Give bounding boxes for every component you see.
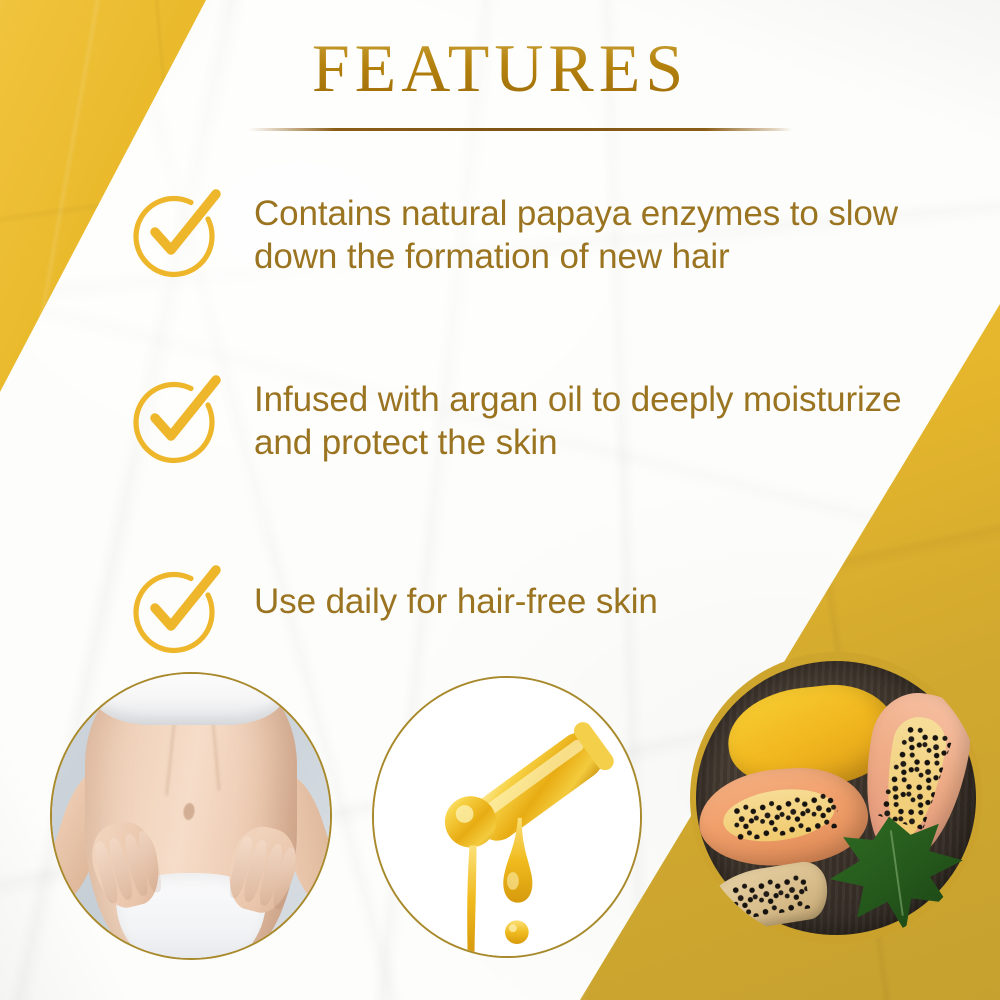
check-circle-icon <box>128 186 220 278</box>
check-circle-icon <box>128 372 220 464</box>
navel <box>182 803 195 821</box>
papaya-photo <box>690 652 982 944</box>
papaya-photo-content <box>690 652 982 944</box>
feature-item-3: Use daily for hair-free skin <box>128 562 658 654</box>
features-infographic: FEATURES Contains natural papaya enzymes… <box>0 0 1000 1000</box>
argan-oil-photo-content <box>374 678 640 956</box>
check-circle-icon <box>128 562 220 654</box>
oil-illustration <box>374 678 640 956</box>
smooth-skin-photo <box>50 672 332 960</box>
white-top <box>91 672 286 725</box>
spoon-seeds <box>729 872 810 920</box>
feature-text-2: Infused with argan oil to deeply moistur… <box>254 372 954 465</box>
leaf-vein <box>890 830 904 916</box>
feature-item-2: Infused with argan oil to deeply moistur… <box>128 372 954 465</box>
feature-text-1: Contains natural papaya enzymes to slow … <box>254 186 954 279</box>
feature-text-3: Use daily for hair-free skin <box>254 562 658 623</box>
page-title: FEATURES <box>0 34 1000 102</box>
argan-oil-photo <box>372 676 642 958</box>
smooth-skin-photo-content <box>52 674 330 958</box>
feature-item-1: Contains natural papaya enzymes to slow … <box>128 186 954 279</box>
title-divider <box>248 128 792 131</box>
